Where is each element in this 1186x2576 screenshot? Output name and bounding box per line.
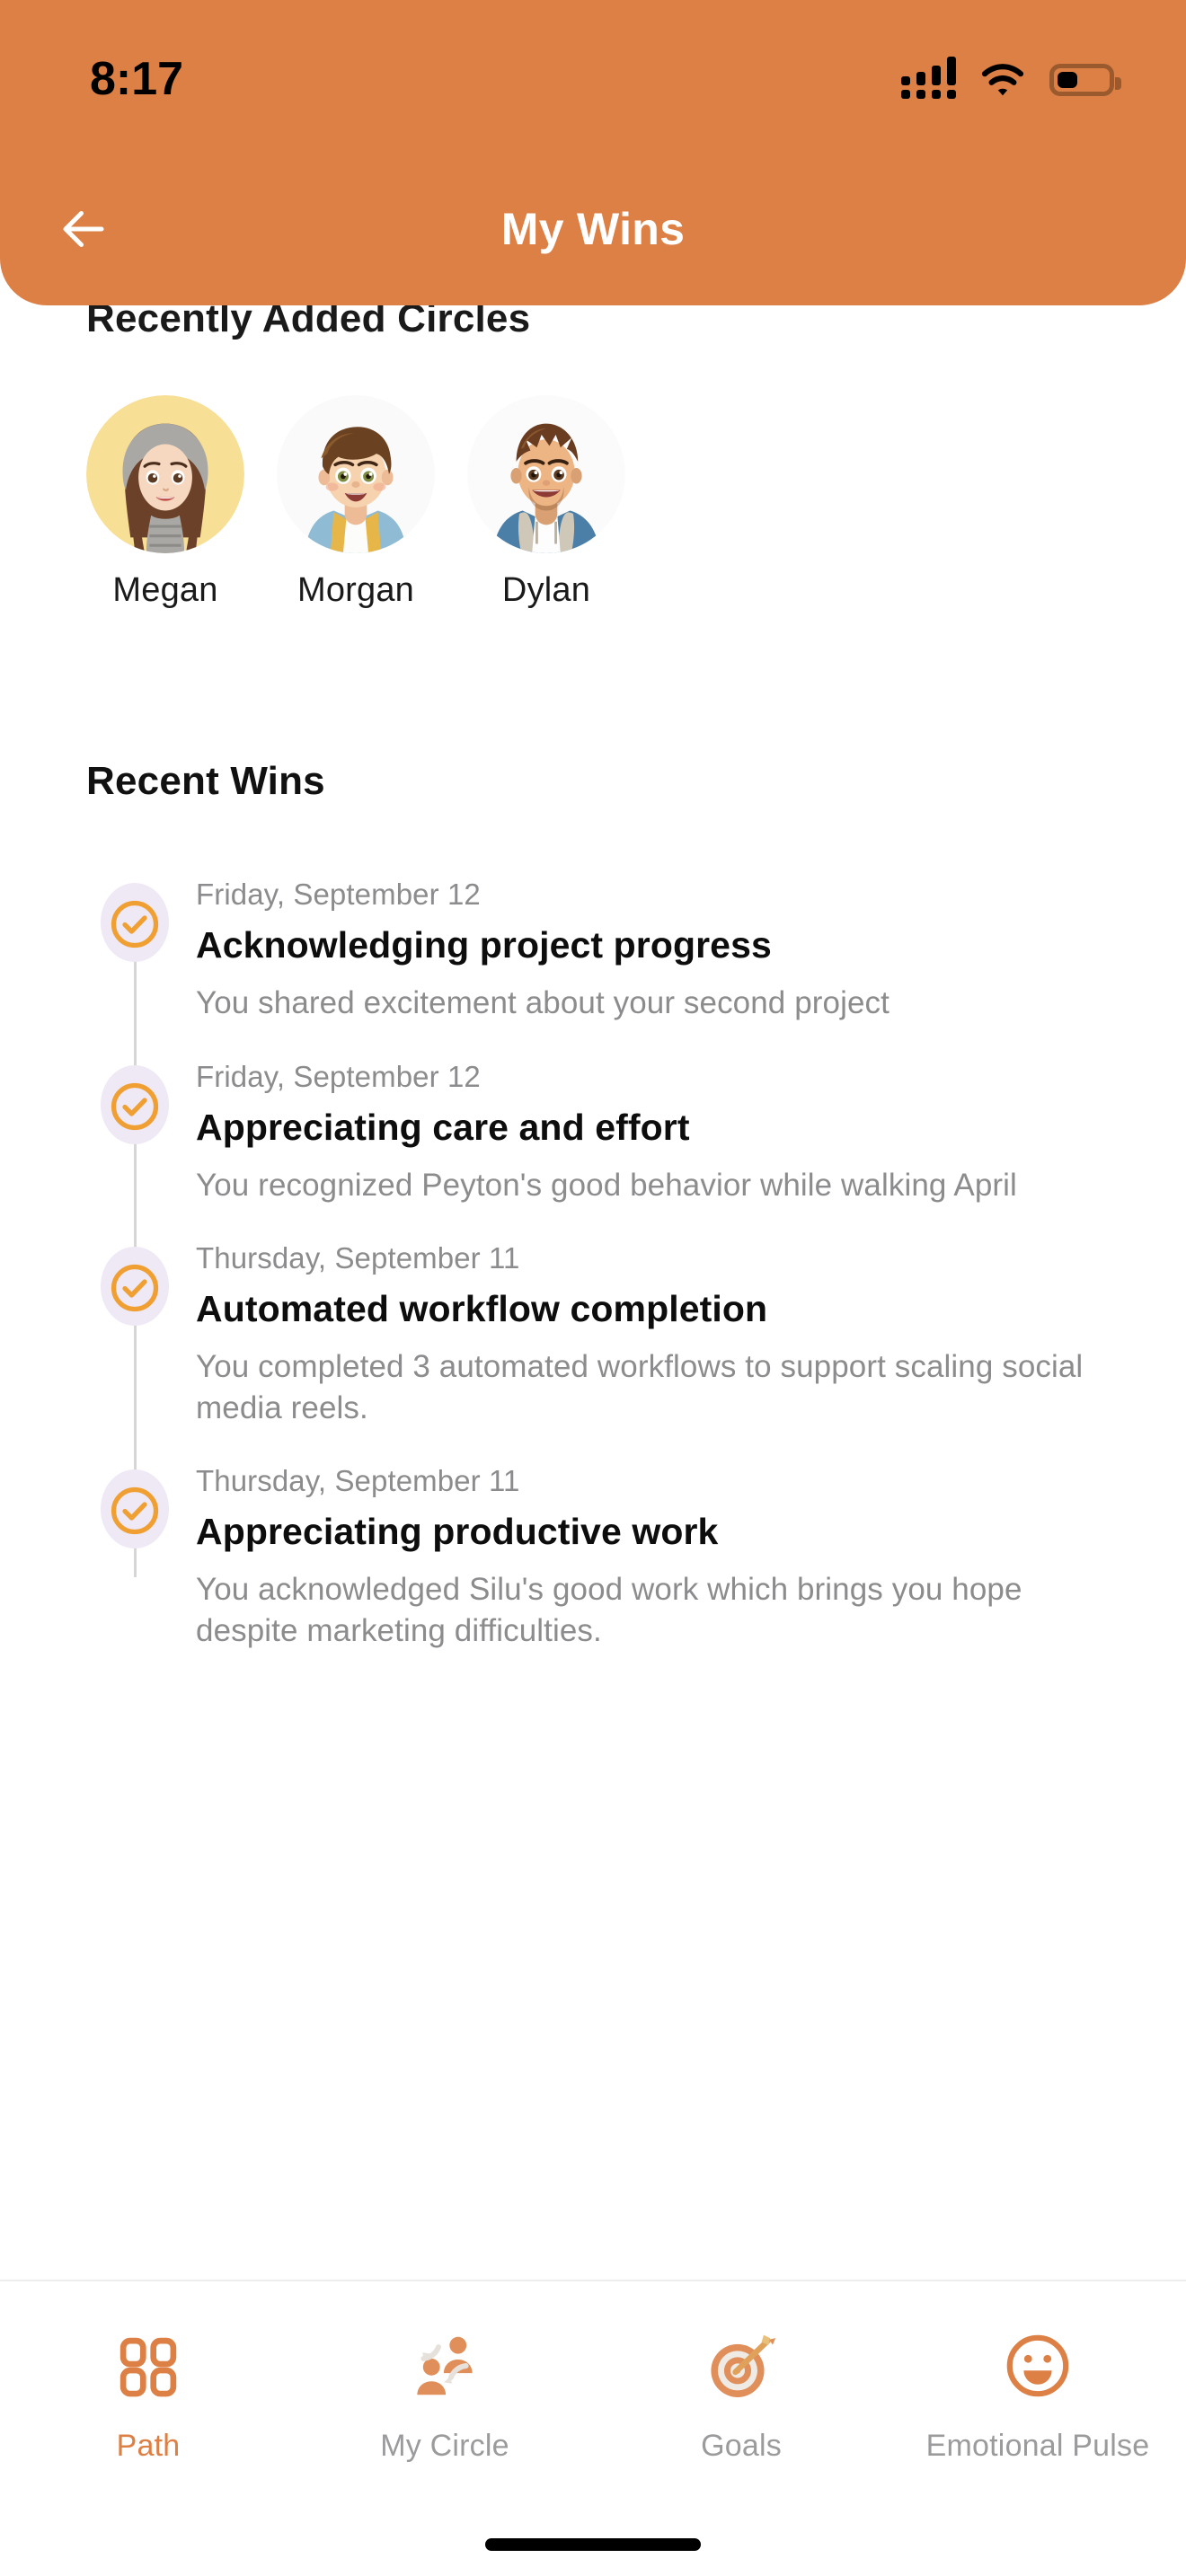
back-button[interactable]	[43, 189, 124, 269]
win-content: Thursday, September 11 Automated workflo…	[183, 1239, 1120, 1428]
nav-tab-label: Emotional Pulse	[926, 2429, 1150, 2464]
win-content: Thursday, September 11 Appreciating prod…	[183, 1462, 1120, 1651]
nav-tab-emotional-pulse[interactable]: Emotional Pulse	[889, 2323, 1186, 2464]
win-date: Thursday, September 11	[196, 1464, 1120, 1498]
nav-icon-wrap	[406, 2323, 483, 2409]
people-arrows-icon	[406, 2327, 483, 2404]
nav-icon-wrap	[114, 2323, 182, 2409]
cellular-signal-icon	[901, 61, 956, 99]
page-title: My Wins	[0, 203, 1186, 255]
nav-tab-path[interactable]: Path	[0, 2323, 296, 2464]
bottom-navigation-bar: Path My Circle	[0, 2280, 1186, 2576]
bottom-nav-items: Path My Circle	[0, 2281, 1186, 2464]
app-screen: Recently Added Circles	[0, 0, 1186, 2576]
win-status-marker	[86, 1058, 183, 1155]
circle-person-label: Dylan	[502, 571, 590, 610]
home-indicator	[485, 2538, 701, 2551]
win-item[interactable]: Friday, September 12 Appreciating care a…	[86, 1058, 1120, 1206]
win-title: Automated workflow completion	[196, 1288, 1120, 1330]
win-status-marker	[86, 1239, 183, 1337]
win-status-marker	[86, 1462, 183, 1559]
win-description: You completed 3 automated workflows to s…	[196, 1346, 1103, 1428]
battery-fill	[1058, 72, 1077, 88]
nav-tab-label: Goals	[701, 2429, 782, 2464]
nav-tab-my-circle[interactable]: My Circle	[296, 2323, 593, 2464]
scroll-content: Recently Added Circles	[0, 0, 1186, 2299]
win-description: You shared excitement about your second …	[196, 983, 1103, 1024]
grid-icon	[114, 2332, 182, 2400]
win-status-marker	[86, 876, 183, 973]
check-circle-icon	[108, 897, 162, 951]
status-bar: 8:17	[0, 0, 1186, 135]
back-arrow-icon	[57, 202, 111, 256]
nav-tab-label: Path	[117, 2429, 181, 2464]
smiley-face-icon	[1003, 2331, 1073, 2401]
win-title: Appreciating care and effort	[196, 1107, 1120, 1149]
status-time: 8:17	[90, 56, 183, 102]
circle-person-label: Morgan	[297, 571, 414, 610]
win-item[interactable]: Friday, September 12 Acknowledging proje…	[86, 876, 1120, 1024]
avatar-megan	[86, 395, 244, 553]
win-date: Friday, September 12	[196, 878, 1120, 912]
win-title: Acknowledging project progress	[196, 924, 1120, 966]
circle-person-megan[interactable]: Megan	[86, 395, 244, 610]
nav-icon-wrap	[1003, 2323, 1073, 2409]
battery-icon	[1049, 64, 1114, 96]
app-header: 8:17	[0, 0, 1186, 305]
check-circle-icon	[108, 1261, 162, 1315]
win-date: Thursday, September 11	[196, 1241, 1120, 1275]
recent-wins-heading: Recent Wins	[86, 759, 325, 804]
win-item[interactable]: Thursday, September 11 Appreciating prod…	[86, 1462, 1120, 1651]
win-description: You recognized Peyton's good behavior wh…	[196, 1165, 1103, 1206]
win-content: Friday, September 12 Acknowledging proje…	[183, 876, 1120, 1024]
circle-person-morgan[interactable]: Morgan	[277, 395, 435, 610]
avatar-morgan	[277, 395, 435, 553]
recent-wins-timeline: Friday, September 12 Acknowledging proje…	[86, 876, 1120, 1685]
win-date: Friday, September 12	[196, 1060, 1120, 1094]
win-content: Friday, September 12 Appreciating care a…	[183, 1058, 1120, 1206]
nav-icon-wrap	[703, 2323, 780, 2409]
wifi-icon	[979, 62, 1026, 98]
circle-person-dylan[interactable]: Dylan	[467, 395, 625, 610]
nav-tab-goals[interactable]: Goals	[593, 2323, 889, 2464]
win-description: You acknowledged Silu's good work which …	[196, 1569, 1103, 1651]
check-circle-icon	[108, 1080, 162, 1134]
nav-tab-label: My Circle	[380, 2429, 509, 2464]
check-circle-icon	[108, 1484, 162, 1538]
header-title-row: My Wins	[0, 180, 1186, 278]
win-item[interactable]: Thursday, September 11 Automated workflo…	[86, 1239, 1120, 1428]
status-icons	[901, 61, 1114, 99]
recently-added-circles-list: Megan	[86, 395, 625, 610]
circle-person-label: Megan	[112, 571, 217, 610]
win-title: Appreciating productive work	[196, 1511, 1120, 1553]
dart-target-icon	[703, 2327, 780, 2404]
avatar-dylan	[467, 395, 625, 553]
